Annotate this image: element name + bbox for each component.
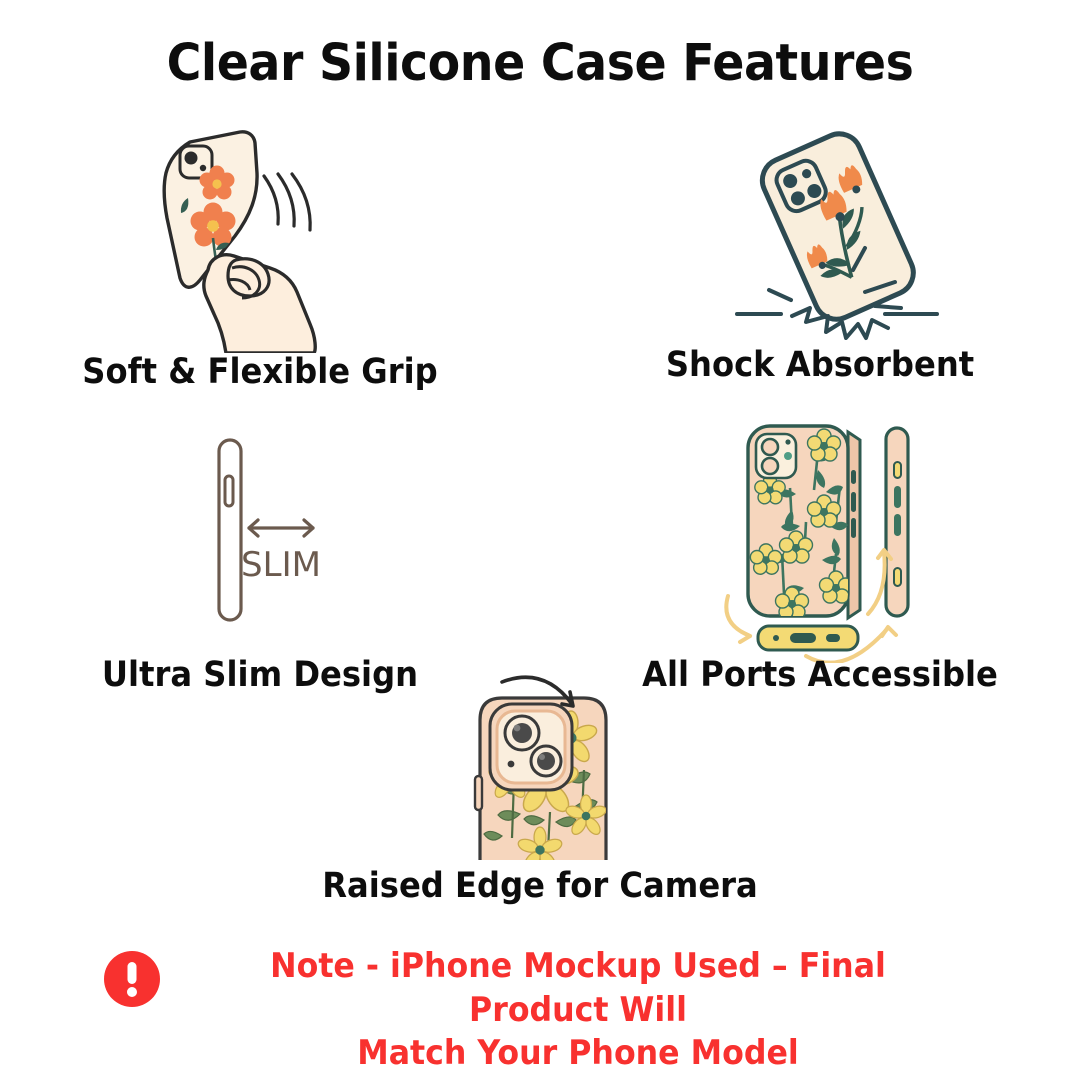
hand-holding-flexing-case-icon [140, 118, 370, 353]
ultra-slim-design-illustration: SLIM [185, 430, 350, 635]
note-text: Note - iPhone Mockup Used – Final Produc… [206, 945, 950, 1076]
raised-edge-for-camera-label: Raised Edge for Camera [301, 866, 779, 906]
ultra-slim-design-label: Ultra Slim Design [21, 655, 499, 695]
note-line-1: Note - iPhone Mockup Used – Final Produc… [270, 946, 886, 1030]
page-title: Clear Silicone Case Features [38, 34, 1042, 93]
bottom-edge-view [758, 626, 858, 650]
note-banner: Note - iPhone Mockup Used – Final Produc… [0, 945, 1080, 1076]
shock-absorbent-illustration [735, 120, 940, 347]
case-side-profile-slim-icon: SLIM [185, 430, 350, 630]
soft-flexible-grip-label: Soft & Flexible Grip [21, 352, 499, 392]
all-ports-accessible-illustration [700, 418, 935, 668]
double-headed-arrow-icon [249, 520, 313, 536]
slim-measure-label: SLIM [241, 545, 321, 585]
all-ports-accessible-label: All Ports Accessible [581, 655, 1059, 695]
side-edge-view [886, 428, 908, 616]
motion-lines [264, 174, 310, 230]
side-button-cutouts [851, 470, 856, 538]
phone-case-impact-burst-icon [735, 120, 940, 342]
shock-absorbent-label: Shock Absorbent [581, 345, 1059, 385]
feature-infographic: Clear Silicone Case Features [0, 0, 1080, 1080]
camera-raised-edge-closeup-icon [458, 660, 643, 860]
soft-flexible-grip-illustration [140, 118, 370, 358]
exclamation-circle-icon [102, 949, 162, 1014]
raised-edge-for-camera-illustration [458, 660, 643, 865]
note-line-2: Match Your Phone Model [357, 1033, 799, 1073]
case-ports-views-icon [700, 418, 935, 663]
